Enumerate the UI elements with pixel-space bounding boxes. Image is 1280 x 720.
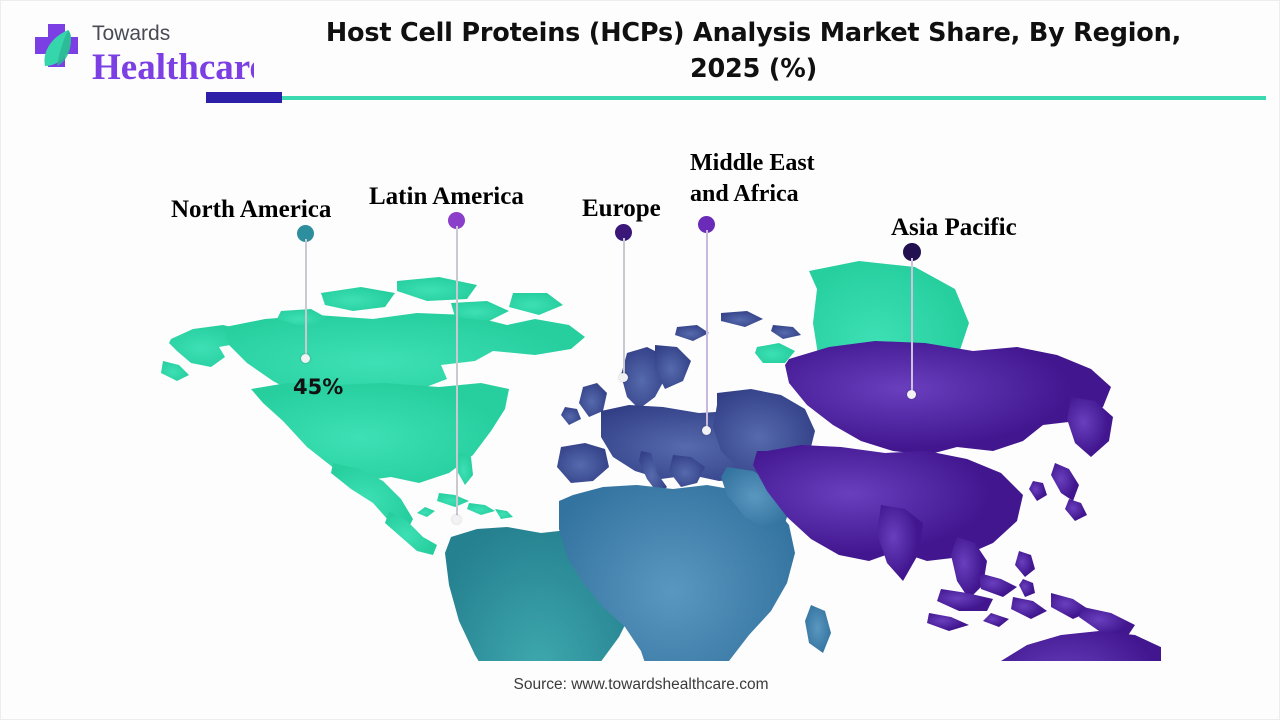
pin-anchor-europe bbox=[619, 373, 628, 382]
callout-label-latin-america: Latin America bbox=[369, 181, 524, 212]
callout-label-middle-east-africa: Middle East and Africa bbox=[690, 148, 860, 210]
brand-logo[interactable]: Towards Healthcare bbox=[19, 11, 254, 89]
accent-bar-teal bbox=[206, 96, 1266, 100]
world-map bbox=[121, 241, 1161, 661]
pin-stem-north-america bbox=[305, 239, 307, 359]
brand-line1: Towards bbox=[92, 22, 170, 45]
brand-line2: Healthcare bbox=[92, 47, 254, 88]
callout-label-europe: Europe bbox=[582, 193, 661, 224]
callout-label-asia-pacific: Asia Pacific bbox=[891, 212, 1017, 243]
source-note: Source: www.towardshealthcare.com bbox=[1, 676, 1280, 694]
infographic-canvas: Towards Healthcare Host Cell Proteins (H… bbox=[0, 0, 1280, 720]
pin-stem-asia-pacific bbox=[911, 258, 913, 395]
callout-label-mea-line2: and Africa bbox=[690, 181, 799, 207]
value-label-north-america: 45% bbox=[293, 375, 343, 399]
callout-label-north-america: North America bbox=[171, 194, 331, 225]
accent-bar-dark bbox=[206, 92, 282, 103]
pin-anchor-north-america bbox=[301, 354, 310, 363]
pin-stem-europe bbox=[623, 238, 625, 378]
pin-anchor-asia-pacific bbox=[907, 390, 916, 399]
pin-stem-middle-east-africa bbox=[706, 230, 708, 432]
pin-anchor-middle-east-africa bbox=[702, 426, 711, 435]
pin-stem-latin-america bbox=[456, 226, 458, 520]
page-title: Host Cell Proteins (HCPs) Analysis Marke… bbox=[301, 15, 1206, 87]
pin-anchor-latin-america bbox=[452, 515, 461, 524]
cross-leaf-logo-icon bbox=[35, 24, 78, 67]
callout-label-mea-line1: Middle East bbox=[690, 150, 815, 176]
